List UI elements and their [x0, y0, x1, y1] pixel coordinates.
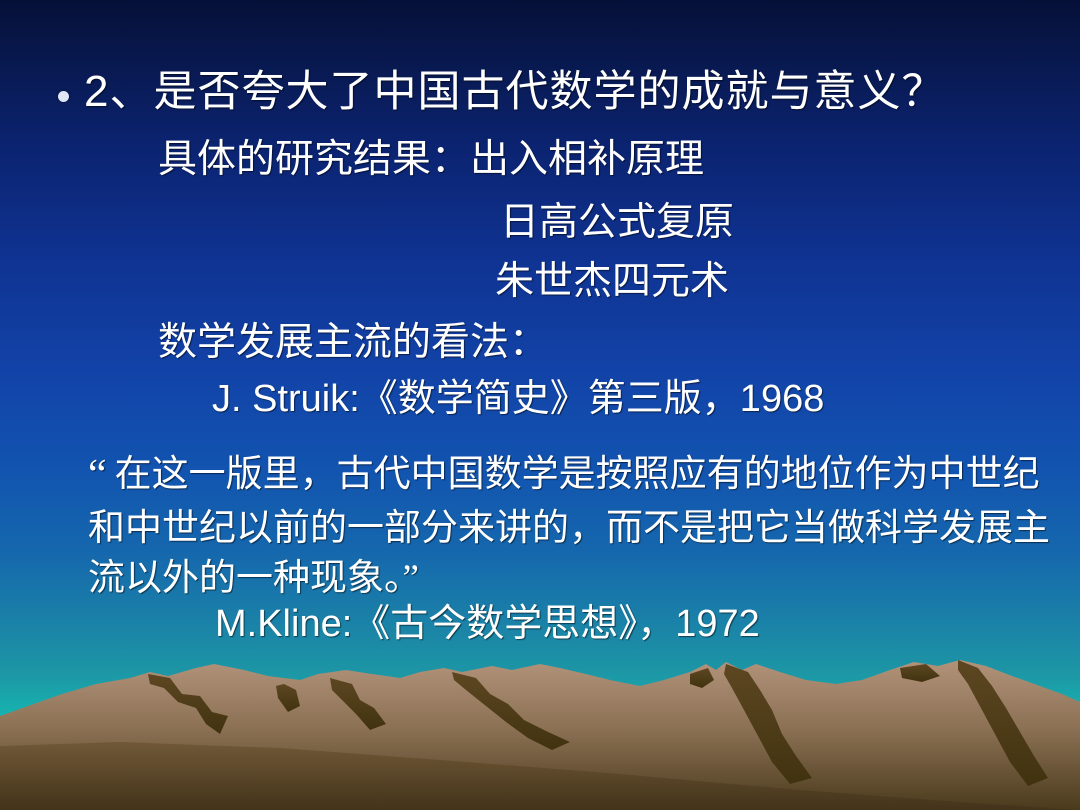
mountain-range-graphic: [0, 650, 1080, 810]
heading-number: 2: [84, 67, 109, 116]
heading-text: 、是否夸大了中国古代数学的成就与意义？: [109, 69, 945, 116]
quote-line-1: “在这一版里，古代中国数学是按照应有的地位作为中世纪: [88, 447, 1048, 504]
heading-line: 2、是否夸大了中国古代数学的成就与意义？: [84, 70, 945, 114]
quote-line-3: 流以外的一种现象。”: [88, 554, 1048, 604]
presentation-slide: 2、是否夸大了中国古代数学的成就与意义？ 具体的研究结果：出入相补原理 日高公式…: [0, 0, 1080, 810]
bullet-icon: [58, 91, 69, 102]
result-line-3: 朱世杰四元术: [495, 262, 729, 301]
open-quote-mark: “: [88, 452, 115, 498]
quote-text-1: 在这一版里，古代中国数学是按照应有的地位作为中世纪: [115, 454, 1040, 495]
results-label-line: 具体的研究结果：出入相补原理: [158, 140, 704, 179]
reference-kline: M.Kline:《古今数学思想》，1972: [215, 605, 760, 643]
reference-struik: J. Struik:《数学简史》第三版，1968: [212, 380, 824, 418]
mainstream-label-line: 数学发展主流的看法：: [158, 323, 548, 362]
quotation-block: “在这一版里，古代中国数学是按照应有的地位作为中世纪 和中世纪以前的一部分来讲的…: [88, 447, 1048, 605]
result-line-2: 日高公式复原: [500, 203, 734, 242]
quote-line-2: 和中世纪以前的一部分来讲的，而不是把它当做科学发展主: [88, 504, 1048, 554]
